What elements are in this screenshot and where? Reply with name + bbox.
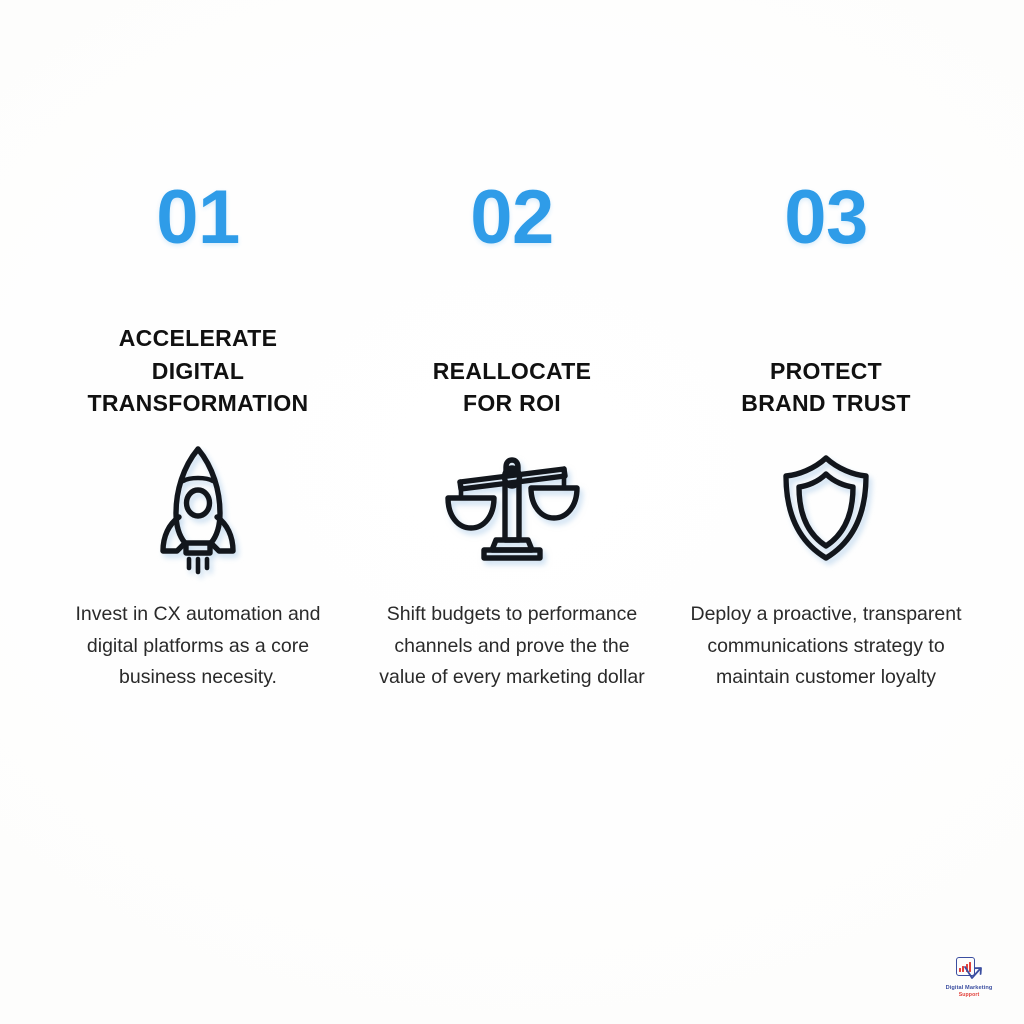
heading-row: REALLOCATE FOR ROI: [362, 290, 662, 420]
pillar-heading-3: PROTECT BRAND TRUST: [741, 355, 910, 420]
pillar-body-1: Invest in CX automation and digital plat…: [62, 599, 334, 694]
balance-scales-icon: [447, 443, 577, 573]
bar-chart-arrow-icon: [954, 957, 984, 983]
logo-name: Digital Marketing: [946, 985, 993, 992]
body-row: Shift budgets to performance channels an…: [362, 595, 662, 694]
pillar-number-01: 01: [156, 180, 240, 256]
number-row: 03: [676, 180, 976, 290]
icon-row: [362, 420, 662, 595]
heading-row: ACCELERATE DIGITAL TRANSFORMATION: [48, 290, 348, 420]
pillar-columns: 01 ACCELERATE DIGITAL TRANSFORMATION: [48, 180, 976, 694]
pillar-column-3: 03 PROTECT BRAND TRUST Deploy a proactiv…: [676, 180, 976, 694]
infographic-canvas: 01 ACCELERATE DIGITAL TRANSFORMATION: [0, 0, 1024, 1024]
body-row: Deploy a proactive, transparent communic…: [676, 595, 976, 694]
number-row: 01: [48, 180, 348, 290]
pillar-body-3: Deploy a proactive, transparent communic…: [690, 599, 962, 694]
logo-arrow-icon: [963, 965, 983, 982]
pillar-number-02: 02: [470, 180, 554, 256]
pillar-number-03: 03: [784, 180, 868, 256]
rocket-icon: [133, 443, 263, 573]
icon-row: [676, 420, 976, 595]
pillar-column-1: 01 ACCELERATE DIGITAL TRANSFORMATION: [48, 180, 348, 694]
number-row: 02: [362, 180, 662, 290]
pillar-heading-2: REALLOCATE FOR ROI: [433, 355, 591, 420]
icon-row: [48, 420, 348, 595]
brand-logo[interactable]: Digital Marketing Support: [936, 957, 1002, 998]
logo-subtitle: Support: [959, 992, 980, 999]
body-row: Invest in CX automation and digital plat…: [48, 595, 348, 694]
shield-icon: [761, 443, 891, 573]
pillar-heading-1: ACCELERATE DIGITAL TRANSFORMATION: [88, 322, 309, 420]
pillar-column-2: 02 REALLOCATE FOR ROI: [362, 180, 662, 694]
heading-row: PROTECT BRAND TRUST: [676, 290, 976, 420]
pillar-body-2: Shift budgets to performance channels an…: [376, 599, 648, 694]
